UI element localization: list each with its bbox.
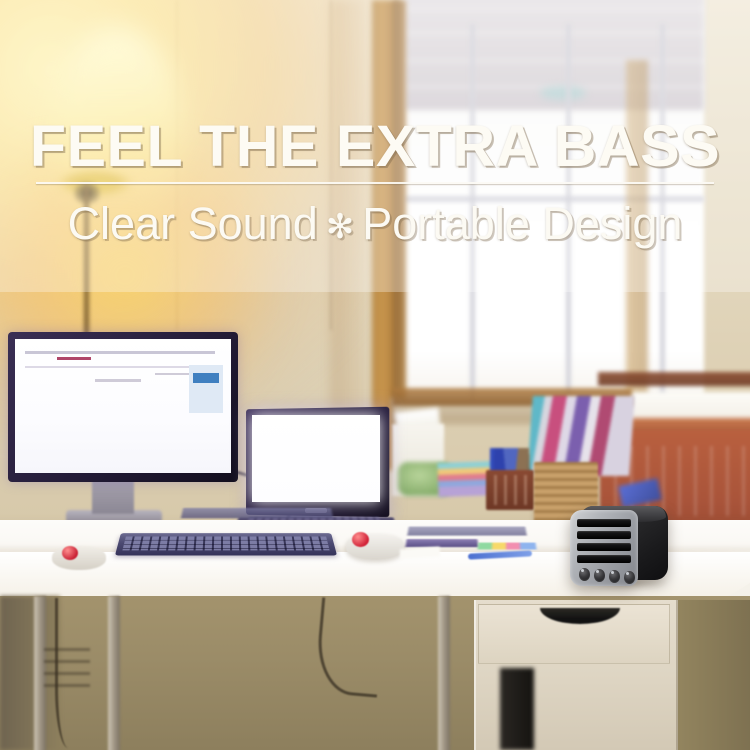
keyboard: [115, 533, 337, 555]
subheadline-left: Clear Sound: [68, 198, 318, 249]
keyboard-back-row: [181, 508, 333, 518]
trackball-ball: [352, 532, 369, 547]
speaker-grille-slot: [577, 519, 631, 527]
cabinet-right-panel: [676, 600, 750, 750]
pen-holder: [486, 470, 534, 510]
notebook: [405, 539, 478, 547]
separator-asterisk-icon: ✻: [318, 208, 363, 246]
banner-copy: FEEL THE EXTRA BASS Clear Sound✻Portable…: [0, 0, 750, 292]
divider-rule: [36, 182, 714, 184]
headline: FEEL THE EXTRA BASS: [0, 118, 750, 176]
speaker-grille-slot: [577, 543, 631, 551]
subheadline: Clear Sound✻Portable Design: [0, 198, 750, 253]
volume-down-button[interactable]: [594, 569, 605, 582]
volume-up-button[interactable]: [609, 570, 620, 583]
speaker-front-panel: [570, 510, 638, 586]
cabinet-post: [438, 596, 450, 750]
secondary-keypad: [407, 527, 527, 536]
desktop-monitor: [8, 332, 238, 482]
trackball-ball: [62, 546, 78, 560]
monitor-stand: [92, 478, 134, 514]
product-banner: FEEL THE EXTRA BASS Clear Sound✻Portable…: [0, 0, 750, 750]
monitor-screen: [15, 339, 231, 473]
sticky-notes: [478, 543, 537, 550]
cabinet-post: [108, 596, 120, 750]
keyboard-keys: [122, 537, 329, 551]
speaker-grille-slot: [577, 531, 631, 539]
mode-button[interactable]: [624, 571, 635, 584]
shelf: [598, 372, 750, 386]
power-button[interactable]: [579, 568, 590, 581]
bluetooth-speaker: [570, 506, 668, 588]
laptop: [244, 408, 388, 516]
dangling-cable: [55, 598, 88, 748]
trackball-mouse-left: [52, 546, 106, 570]
laptop-screen: [252, 415, 380, 502]
speaker-grille-slot: [577, 555, 631, 563]
drawer-gap: [500, 668, 534, 750]
subheadline-right: Portable Design: [362, 198, 682, 249]
